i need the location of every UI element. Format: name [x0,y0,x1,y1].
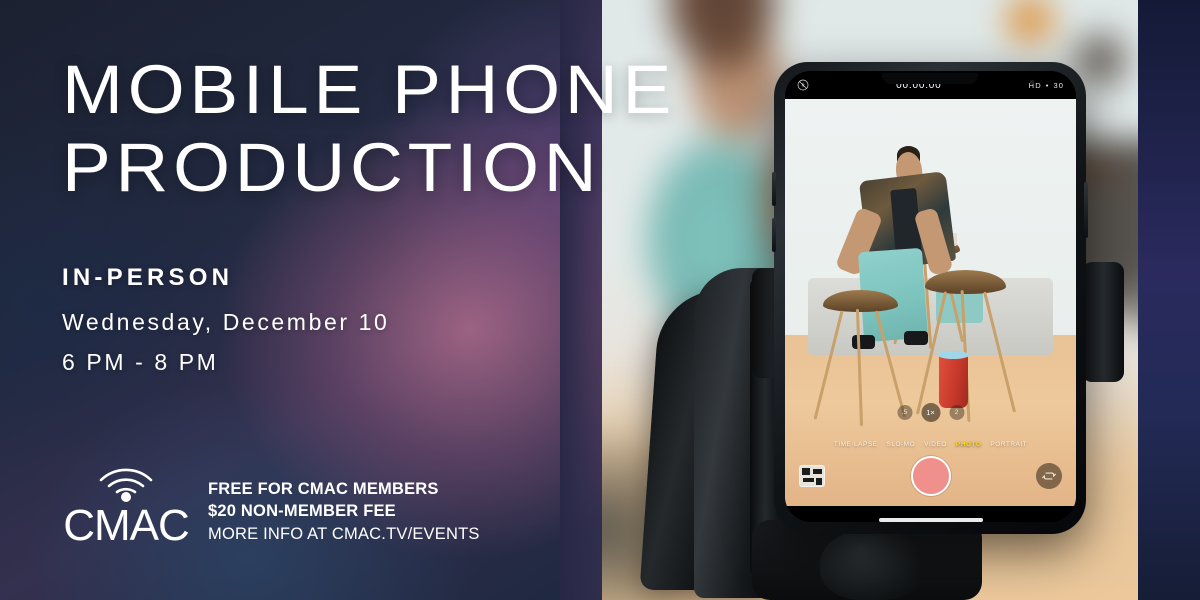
smartphone: 00:00:00 HD • 30 [774,62,1086,534]
camera-mode-selector[interactable]: TIME-LAPSE SLO-MO VIDEO PHOTO PORTRAIT [785,441,1076,448]
photo-thumbnail[interactable] [799,465,825,487]
cmac-logo: CMAC [62,448,190,552]
phone-power-button [1084,182,1088,238]
event-format: IN-PERSON [62,264,389,292]
logo-wordmark: CMAC [63,501,189,550]
fee-info: FREE FOR CMAC MEMBERS $20 NON-MEMBER FEE… [208,478,480,552]
title-line-2: PRODUCTION [62,134,676,202]
stool-top [823,290,899,312]
right-edge-band [1138,0,1200,600]
event-banner: 00:00:00 HD • 30 [0,0,1200,600]
phone-volume-up-button [772,172,776,206]
photo-panel: 00:00:00 HD • 30 [602,0,1140,600]
quality-separator: • [1046,81,1050,90]
event-details: IN-PERSON Wednesday, December 10 6 PM - … [62,264,389,376]
camera-flip-icon [1042,469,1056,483]
fps-label: 30 [1053,81,1064,90]
camera-controls-row [785,452,1076,500]
mode-portrait[interactable]: PORTRAIT [990,441,1027,448]
event-date: Wednesday, December 10 [62,309,389,336]
home-indicator[interactable] [879,518,983,522]
stool-top [925,270,1006,294]
cmac-logo-mark: CMAC [62,448,190,552]
event-time: 6 PM - 8 PM [62,349,389,376]
phone-volume-down-button [772,218,776,252]
mode-video[interactable]: VIDEO [924,441,947,448]
mode-photo[interactable]: PHOTO [956,441,982,448]
camera-viewfinder[interactable]: .5 1× 2 TIME-LAPSE SLO-MO VIDEO PHOTO PO… [785,99,1076,506]
fee-members: FREE FOR CMAC MEMBERS [208,478,480,501]
mode-slo-mo[interactable]: SLO-MO [887,441,916,448]
scene-stool-left [823,290,899,412]
stool-leg [856,309,863,426]
scene-red-cup [939,355,968,408]
flash-off-icon[interactable] [797,79,809,91]
shutter-button[interactable] [911,456,951,496]
fee-nonmembers: $20 NON-MEMBER FEE [208,500,480,523]
zoom-button-0.5[interactable]: .5 [897,405,912,420]
footer: CMAC FREE FOR CMAC MEMBERS $20 NON-MEMBE… [62,448,480,552]
zoom-button-2x[interactable]: 2 [949,405,964,420]
home-indicator-area [785,506,1076,522]
more-info-link[interactable]: MORE INFO AT CMAC.TV/EVENTS [208,523,480,546]
camera-flip-button[interactable] [1036,463,1062,489]
gimbal-clamp-right [1082,262,1124,382]
title-line-1: MOBILE PHONE [62,51,676,128]
gimbal-motor-knob [820,528,924,600]
mode-time-lapse[interactable]: TIME-LAPSE [834,441,878,448]
phone-front-camera [1030,80,1034,84]
phone-screen: 00:00:00 HD • 30 [785,71,1076,522]
zoom-level-selector[interactable]: .5 1× 2 [897,403,964,422]
zoom-button-1x[interactable]: 1× [921,403,940,422]
phone-notch [882,73,978,84]
page-title: MOBILE PHONE PRODUCTION [62,56,676,201]
